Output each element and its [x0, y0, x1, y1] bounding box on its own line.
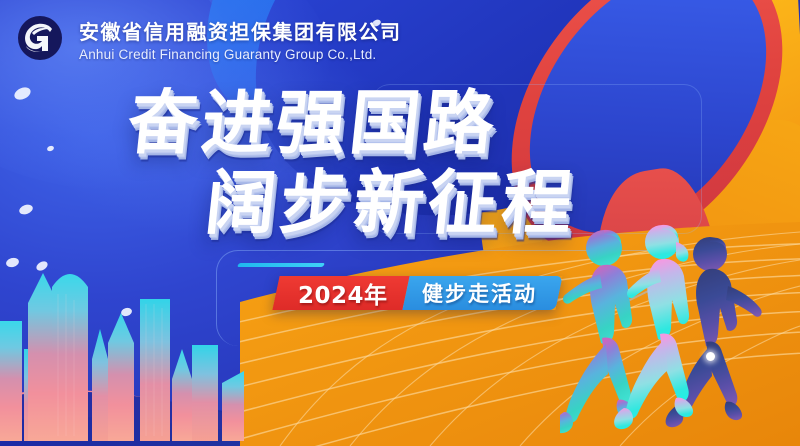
subtitle-year-badge: 2024年 [272, 276, 409, 310]
subtitle-event-badge: 健步走活动 [402, 276, 562, 310]
runner-left [560, 230, 635, 433]
decor-accent-line [237, 263, 325, 267]
sparkle-dot [706, 352, 715, 361]
banner-header: 安徽省信用融资担保集团有限公司 Anhui Credit Financing G… [12, 10, 402, 66]
subtitle-year-label: 2024年 [298, 276, 388, 310]
skyline-building [140, 299, 170, 441]
subtitle-event-label: 健步走活动 [422, 278, 537, 308]
skyline-building [222, 371, 244, 441]
skyline-building [52, 274, 88, 441]
promotional-banner: 安徽省信用融资担保集团有限公司 Anhui Credit Financing G… [0, 0, 800, 446]
company-name-cn: 安徽省信用融资担保集团有限公司 [79, 16, 402, 45]
company-name-block: 安徽省信用融资担保集团有限公司 Anhui Credit Financing G… [79, 14, 402, 62]
city-skyline [0, 236, 250, 446]
main-title: 奋进强国路 阔步新征程 [0, 88, 700, 238]
company-logo [12, 10, 68, 66]
skyline-building [0, 321, 22, 441]
skyline-building [108, 313, 134, 441]
runner-silhouettes [560, 216, 800, 446]
subtitle-bar: 2024年 健步走活动 [272, 276, 562, 310]
company-name-en: Anhui Credit Financing Guaranty Group Co… [79, 47, 402, 62]
title-line-1: 奋进强国路 [124, 88, 703, 158]
skyline-building [172, 349, 192, 441]
skyline-building [192, 345, 218, 441]
title-line-2: 阔步新征程 [202, 168, 703, 238]
company-g-logo-icon [12, 10, 68, 66]
skyline-building [92, 329, 108, 441]
